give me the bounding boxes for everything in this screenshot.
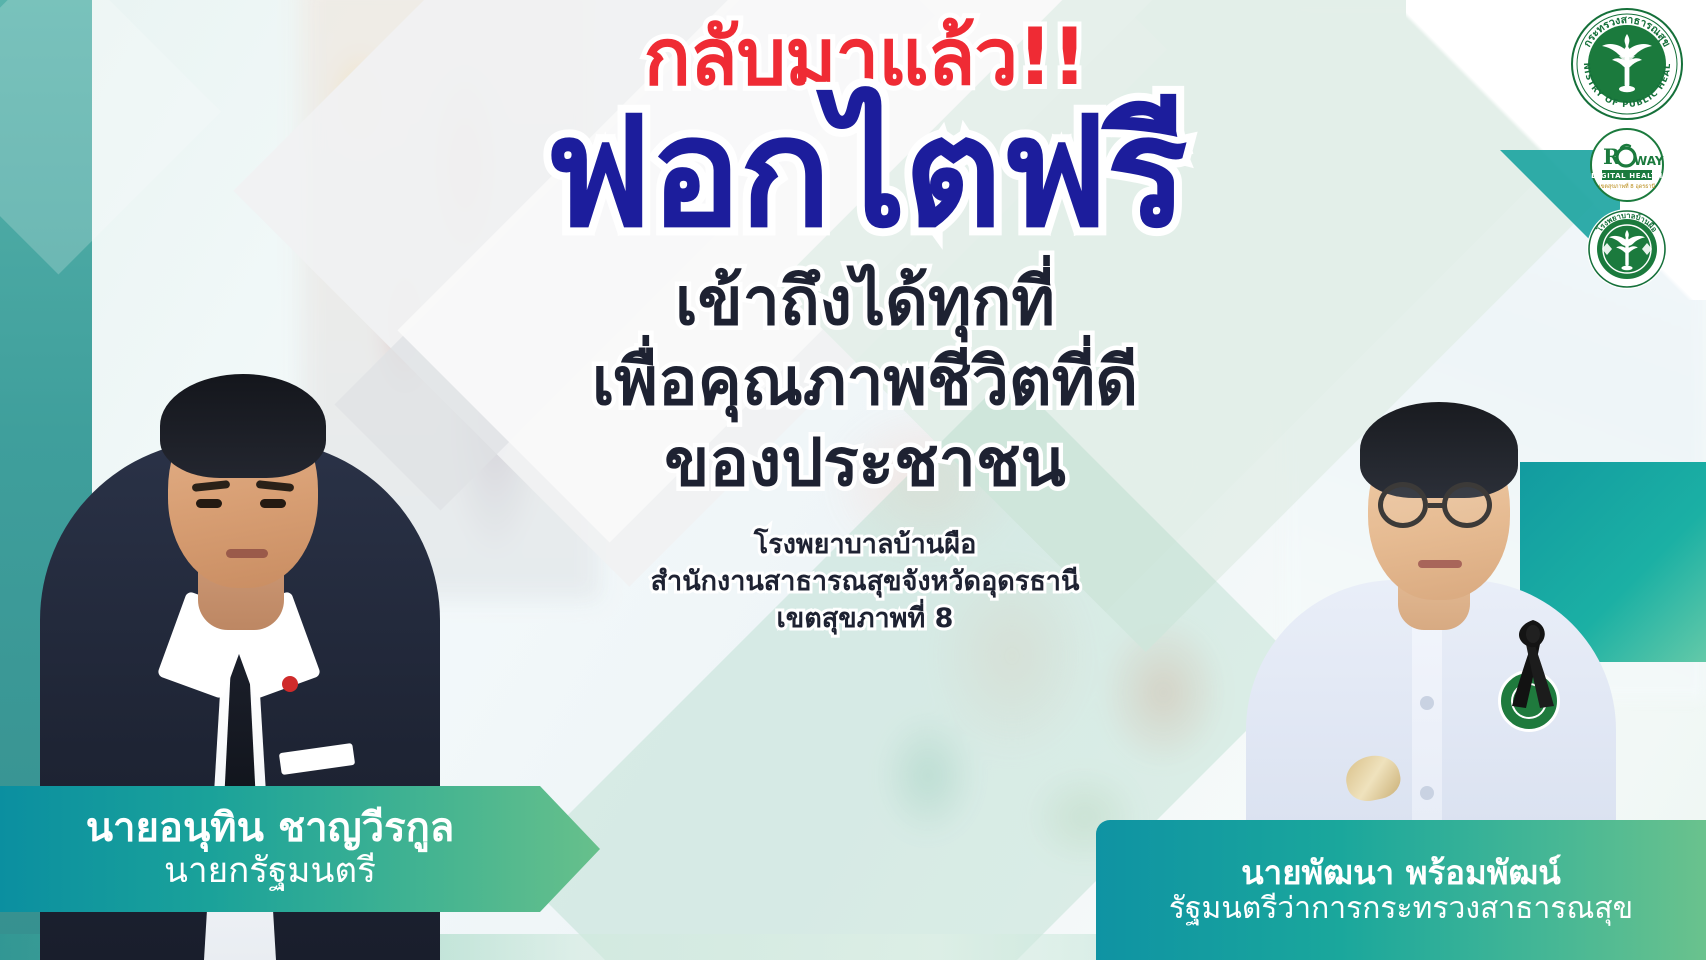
- name-banner-left-name: นายอนุทิน ชาญวีรกูล: [0, 806, 540, 851]
- organization-block: โรงพยาบาลบ้านผือ สำนักงานสาธารณสุขจังหวั…: [470, 526, 1260, 638]
- subline-group: เข้าถึงได้ทุกที่ เพื่อคุณภาพชีวิตที่ดี ข…: [470, 262, 1260, 504]
- name-banner-right-title: รัฐมนตรีว่าการกระทรวงสาธารณสุข: [1108, 891, 1694, 926]
- ministry-of-public-health-logo-icon: กระทรวงสาธารณสุข MINISTRY OF PUBLIC HEAL…: [1569, 6, 1685, 122]
- poster-copy: กลับมาแล้ว!! ฟอกไตฟรี เข้าถึงได้ทุกที่ เ…: [470, 18, 1260, 637]
- headline-main: ฟอกไตฟรี: [470, 94, 1260, 252]
- name-banner-left-title: นายกรัฐมนตรี: [0, 851, 540, 891]
- portrait-right-hair: [1360, 402, 1518, 498]
- subline-3: ของประชาชน: [470, 423, 1260, 504]
- portrait-right-mouth: [1418, 560, 1462, 568]
- svg-text:เขตสุขภาพที่ 8 อุดรธานี: เขตสุขภาพที่ 8 อุดรธานี: [1599, 182, 1655, 190]
- name-banner-left: นายอนุทิน ชาญวีรกูล นายกรัฐมนตรี: [0, 786, 600, 912]
- portrait-left-eye-left: [196, 499, 222, 508]
- portrait-right-eyeglass-bridge: [1428, 503, 1444, 508]
- subline-2: เพื่อคุณภาพชีวิตที่ดี: [470, 342, 1260, 423]
- portrait-right-button-lower: [1420, 786, 1434, 800]
- svg-text:WAY: WAY: [1634, 154, 1664, 168]
- organization-line-1: โรงพยาบาลบ้านผือ: [470, 526, 1260, 563]
- portrait-left-mouth: [226, 549, 268, 558]
- organization-line-2: สำนักงานสาธารณสุขจังหวัดอุดรธานี: [470, 563, 1260, 600]
- svg-text:DIGITAL HEALTH: DIGITAL HEALTH: [1591, 172, 1663, 180]
- ban-phue-hospital-logo-icon: โรงพยาบาลบ้านผือ: [1586, 208, 1668, 290]
- r8way-digital-health-logo-icon: R WAY DIGITAL HEALTH เขตสุขภาพที่ 8 อุดร…: [1590, 128, 1664, 202]
- name-banner-right: นายพัฒนา พร้อมพัฒน์ รัฐมนตรีว่าการกระทรว…: [1096, 820, 1706, 960]
- portrait-right-eyeglass-right: [1442, 482, 1492, 528]
- organization-line-3: เขตสุขภาพที่ 8: [470, 600, 1260, 637]
- subline-1: เข้าถึงได้ทุกที่: [470, 262, 1260, 343]
- portrait-right-eyeglass-left: [1378, 482, 1428, 528]
- portrait-left-lapel-pin: [282, 676, 298, 692]
- poster-canvas: กระทรวงสาธารณสุข MINISTRY OF PUBLIC HEAL…: [0, 0, 1706, 960]
- name-banner-right-name: นายพัฒนา พร้อมพัฒน์: [1108, 854, 1694, 892]
- portrait-right-button-upper: [1420, 696, 1434, 710]
- portrait-left-hair: [160, 374, 326, 478]
- mourning-ribbon-icon: [1500, 614, 1566, 708]
- portrait-left-eye-right: [260, 499, 286, 508]
- logo-stack: กระทรวงสาธารณสุข MINISTRY OF PUBLIC HEAL…: [1562, 6, 1692, 290]
